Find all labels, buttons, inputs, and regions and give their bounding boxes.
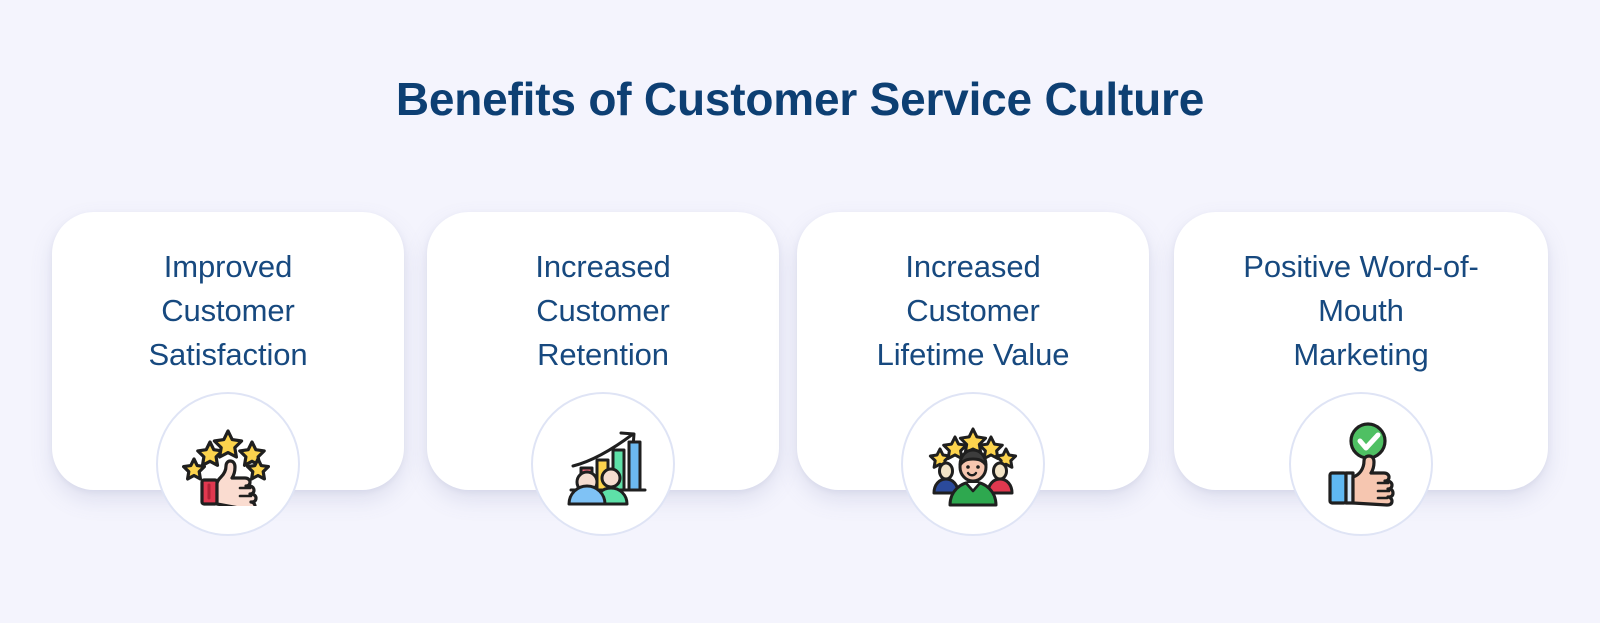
benefit-card-title-line: Increased [419, 245, 787, 289]
benefit-card-title-line: Improved [44, 245, 412, 289]
growth-chart-people-icon [531, 392, 675, 536]
benefit-card-title: Improved Customer Satisfaction [44, 245, 412, 377]
benefit-cards-row: Improved Customer Satisfaction [52, 212, 1548, 552]
benefits-infographic: Benefits of Customer Service Culture Imp… [0, 0, 1600, 623]
benefit-card-title-line: Lifetime Value [789, 333, 1157, 377]
customer-group-five-stars-icon [901, 392, 1045, 536]
benefit-card-title-line: Satisfaction [44, 333, 412, 377]
benefit-card-title-line: Positive Word-of- [1166, 245, 1556, 289]
benefit-card-increased-customer-lifetime-value[interactable]: Increased Customer Lifetime Value [797, 212, 1149, 490]
benefit-card-title-line: Retention [419, 333, 787, 377]
benefit-card-title-line: Customer [789, 289, 1157, 333]
benefit-card-title-line: Marketing [1166, 333, 1556, 377]
benefit-card-title-line: Mouth [1166, 289, 1556, 333]
check-thumbs-up-icon [1289, 392, 1433, 536]
benefit-card-increased-customer-retention[interactable]: Increased Customer Retention [427, 212, 779, 490]
benefit-card-title: Positive Word-of- Mouth Marketing [1166, 245, 1556, 377]
benefit-card-title-line: Increased [789, 245, 1157, 289]
benefit-card-improved-customer-satisfaction[interactable]: Improved Customer Satisfaction [52, 212, 404, 490]
benefit-card-title: Increased Customer Retention [419, 245, 787, 377]
thumbs-up-five-stars-icon [156, 392, 300, 536]
benefit-card-title: Increased Customer Lifetime Value [789, 245, 1157, 377]
benefit-card-title-line: Customer [44, 289, 412, 333]
page-title: Benefits of Customer Service Culture [0, 72, 1600, 127]
benefit-card-title-line: Customer [419, 289, 787, 333]
benefit-card-positive-word-of-mouth-marketing[interactable]: Positive Word-of- Mouth Marketing [1174, 212, 1548, 490]
